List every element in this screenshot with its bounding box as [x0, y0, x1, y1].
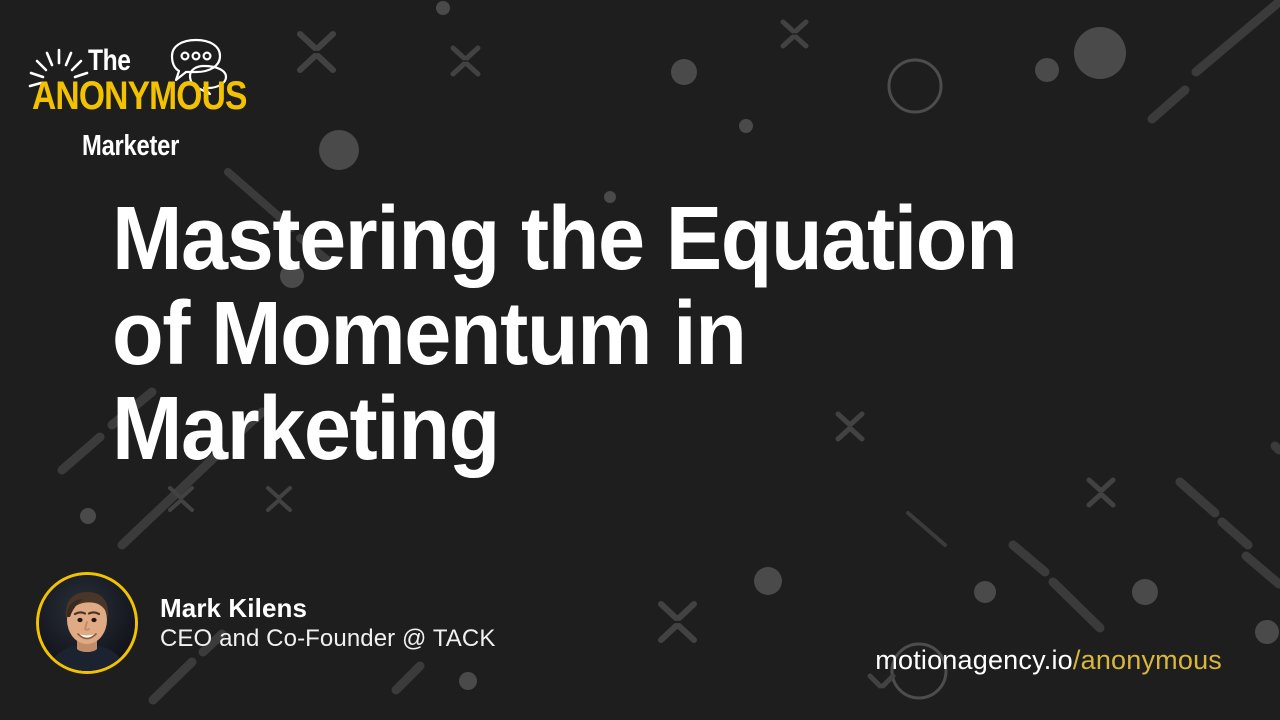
x-mark: [870, 676, 893, 686]
avatar-portrait: [39, 575, 135, 671]
footer-url-base: motionagency.io: [875, 645, 1073, 675]
x-mark: [170, 488, 192, 510]
x-mark: [1089, 480, 1113, 505]
logo-line-marketer: Marketer: [82, 130, 179, 163]
speaker-text: Mark Kilens CEO and Co-Founder @ TACK: [160, 592, 495, 654]
presentation-slide: The ANONYMOUS Marketer Mastering the Equ…: [0, 0, 1280, 720]
x-mark: [661, 604, 694, 640]
x-mark: [268, 488, 290, 510]
x-mark: [300, 34, 333, 70]
footer-url-path: /anonymous: [1073, 645, 1222, 675]
logo-line-anonymous: ANONYMOUS: [32, 76, 247, 116]
avatar: [36, 572, 138, 674]
footer-url[interactable]: motionagency.io/anonymous: [875, 644, 1222, 676]
brand-logo: The ANONYMOUS Marketer: [16, 18, 256, 168]
x-mark: [783, 22, 806, 46]
speaker-role: CEO and Co-Founder @ TACK: [160, 624, 495, 654]
slide-title: Mastering the Equation of Momentum in Ma…: [112, 192, 1090, 477]
speaker-block: Mark Kilens CEO and Co-Founder @ TACK: [36, 572, 495, 674]
x-mark: [453, 48, 478, 74]
speaker-name: Mark Kilens: [160, 592, 495, 624]
logo-line-the: The: [88, 44, 131, 78]
